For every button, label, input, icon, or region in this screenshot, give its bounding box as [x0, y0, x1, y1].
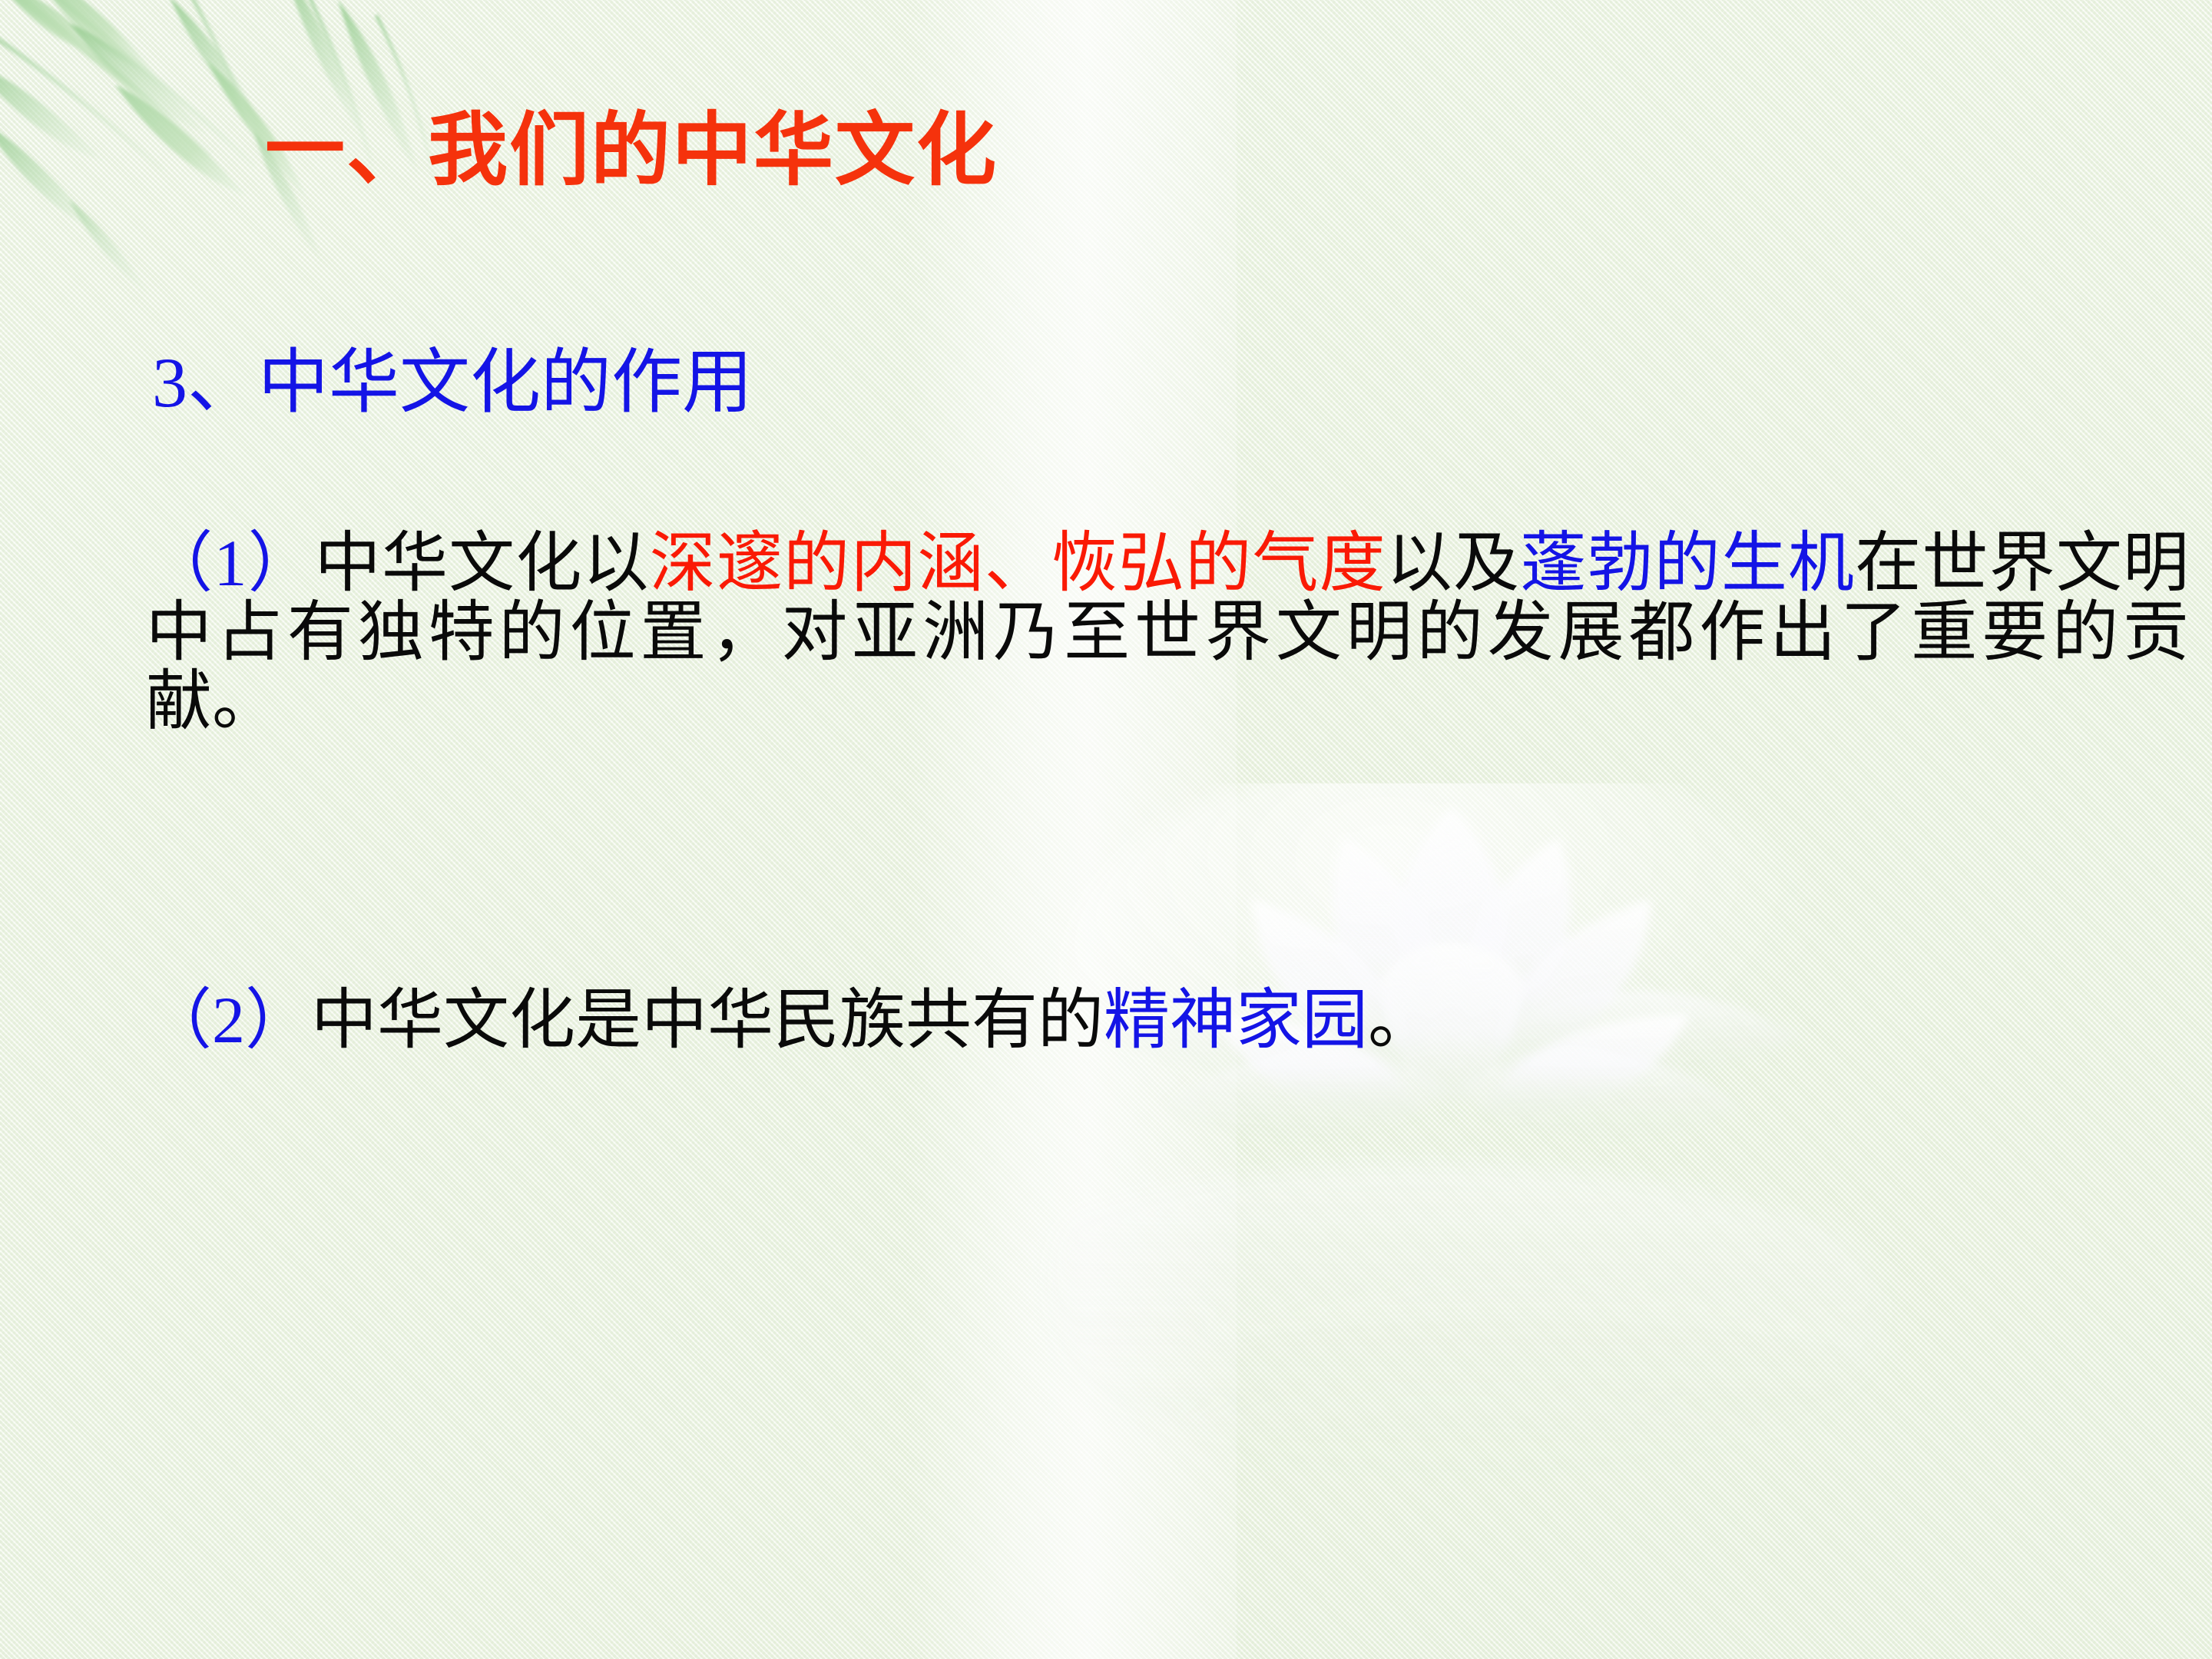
paragraph-2-run-1: 中华文化是中华民族共有的	[311, 983, 1104, 1057]
paragraph-2-run-2-highlight-blue: 精神家园	[1104, 983, 1368, 1057]
paragraph-2-run-3: 。	[1368, 983, 1434, 1057]
page-title: 一、我们的中华文化	[265, 110, 998, 190]
section-subtitle: 3、中华文化的作用	[152, 347, 753, 418]
paragraph-1-marker: （1）	[146, 526, 315, 600]
paragraph-1-run-4-highlight-blue: 蓬勃的生机	[1520, 526, 1855, 600]
paragraph-1: （1）中华文化以深邃的内涵、恢弘的气度以及蓬勃的生机在世界文明中占有独特的位置，…	[146, 528, 2189, 736]
paragraph-2: （2）中华文化是中华民族共有的精神家园。	[146, 985, 2189, 1055]
paragraph-1-run-1: 中华文化以	[315, 526, 650, 600]
slide-content: 一、我们的中华文化 3、中华文化的作用 （1）中华文化以深邃的内涵、恢弘的气度以…	[0, 0, 2212, 1659]
paragraph-1-run-2-highlight-red: 深邃的内涵、恢弘的气度	[650, 526, 1386, 600]
paragraph-2-marker: （2）	[146, 983, 311, 1057]
slide-canvas: 一、我们的中华文化 3、中华文化的作用 （1）中华文化以深邃的内涵、恢弘的气度以…	[0, 0, 2212, 1659]
paragraph-1-run-3: 以及	[1386, 526, 1520, 600]
